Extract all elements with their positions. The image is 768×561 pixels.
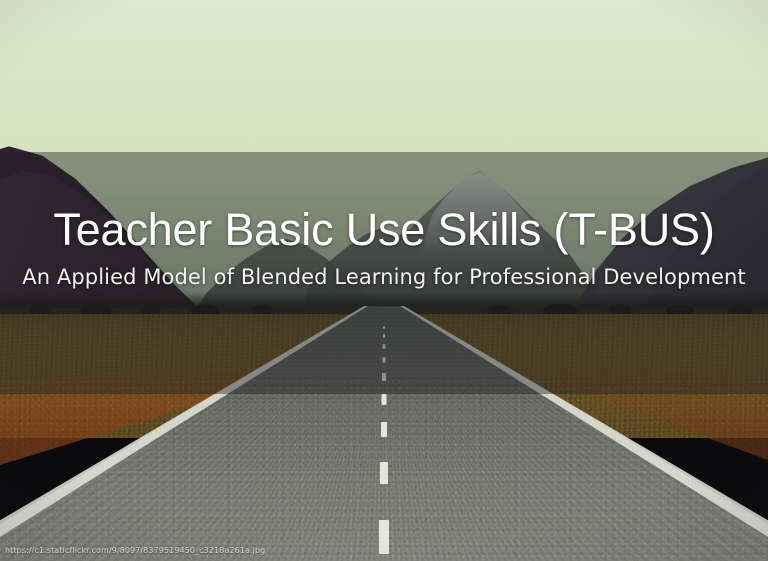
road-dash [380,462,388,484]
road-dash [381,422,387,437]
slide-subtitle: An Applied Model of Blended Learning for… [0,267,768,288]
road-dash [379,520,389,554]
presentation-slide: Teacher Basic Use Skills (T-BUS) An Appl… [0,0,768,561]
slide-title: Teacher Basic Use Skills (T-BUS) [0,207,768,252]
image-credit-url: https://c1.staticflickr.com/9/8097/83795… [5,546,265,555]
road-dash [382,394,387,405]
